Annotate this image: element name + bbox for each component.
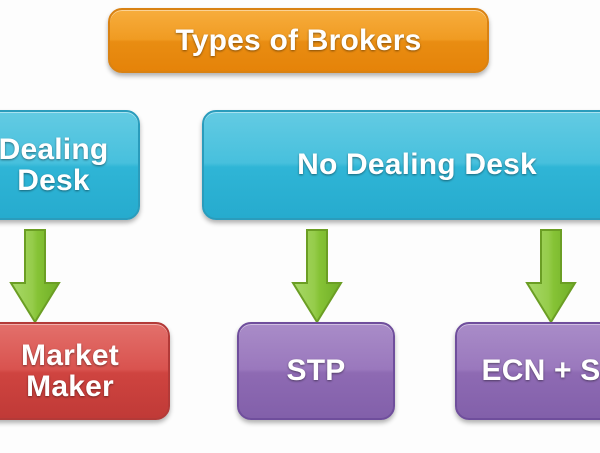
arrow-no-dealing-desk-ecn-down-icon [524, 228, 578, 326]
node-dealing-desk[interactable]: Dealing Desk [0, 110, 140, 220]
arrow-no-dealing-desk-stp-down-icon [290, 228, 344, 326]
node-label: No Dealing Desk [291, 149, 543, 181]
node-label: Types of Brokers [169, 25, 427, 57]
node-label: STP [281, 355, 352, 387]
node-no-dealing-desk[interactable]: No Dealing Desk [202, 110, 600, 220]
node-label: Market Maker [15, 340, 125, 403]
node-market-maker[interactable]: Market Maker [0, 322, 170, 420]
node-types-of-brokers[interactable]: Types of Brokers [108, 8, 489, 73]
node-stp[interactable]: STP [237, 322, 395, 420]
diagram-canvas: Types of Brokers Dealing Desk No Dealing… [0, 0, 600, 453]
arrow-dealing-desk-down-icon [8, 228, 62, 326]
node-ecn-stp[interactable]: ECN + S [455, 322, 600, 420]
node-label: Dealing Desk [0, 134, 114, 197]
node-label: ECN + S [476, 355, 600, 387]
